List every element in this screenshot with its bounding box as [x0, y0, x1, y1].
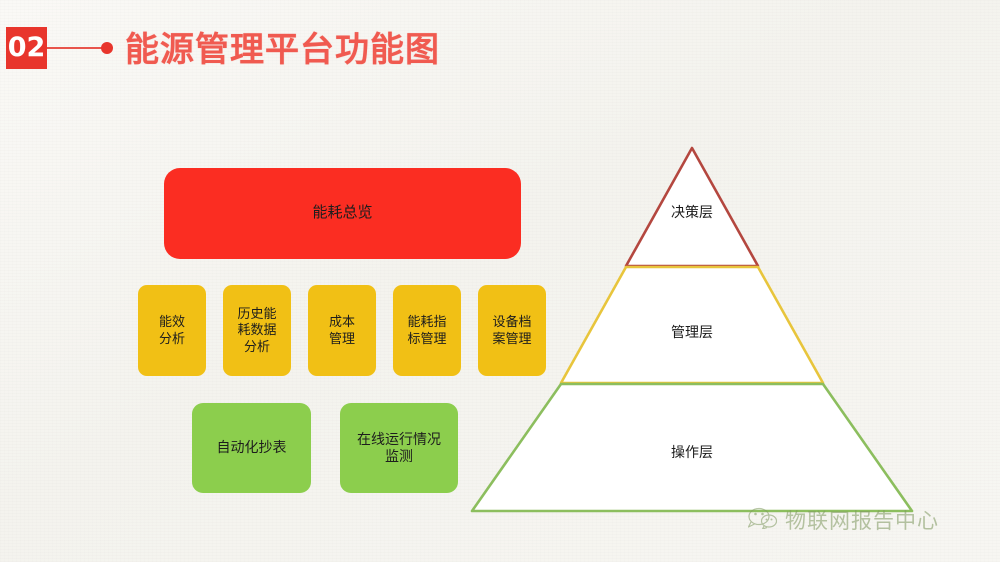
header-connector-line	[47, 47, 105, 49]
node-energy-efficiency-analysis[interactable]: 能效 分析	[138, 285, 206, 376]
wechat-icon	[748, 507, 778, 534]
watermark: 物联网报告中心	[748, 505, 939, 535]
page-title: 能源管理平台功能图	[125, 22, 440, 71]
pyramid-label-decision: 决策层	[671, 202, 713, 222]
node-automatic-meter-reading[interactable]: 自动化抄表	[192, 403, 311, 493]
node-consumption-index-management[interactable]: 能耗指 标管理	[393, 285, 461, 376]
header-connector-dot	[101, 42, 113, 54]
slide-canvas: 02 能源管理平台功能图 能耗总览 能效 分析 历史能 耗数据 分析 成本 管理…	[0, 0, 1000, 562]
pyramid-diagram: 决策层 管理层 操作层	[455, 130, 935, 530]
pyramid-label-management: 管理层	[671, 322, 713, 342]
node-online-operation-monitoring[interactable]: 在线运行情况 监测	[340, 403, 458, 493]
pyramid-label-operation: 操作层	[671, 442, 713, 462]
node-cost-management[interactable]: 成本 管理	[308, 285, 376, 376]
watermark-text: 物联网报告中心	[785, 505, 939, 535]
section-number-badge: 02	[6, 27, 47, 69]
node-historical-consumption-data-analysis[interactable]: 历史能 耗数据 分析	[223, 285, 291, 376]
